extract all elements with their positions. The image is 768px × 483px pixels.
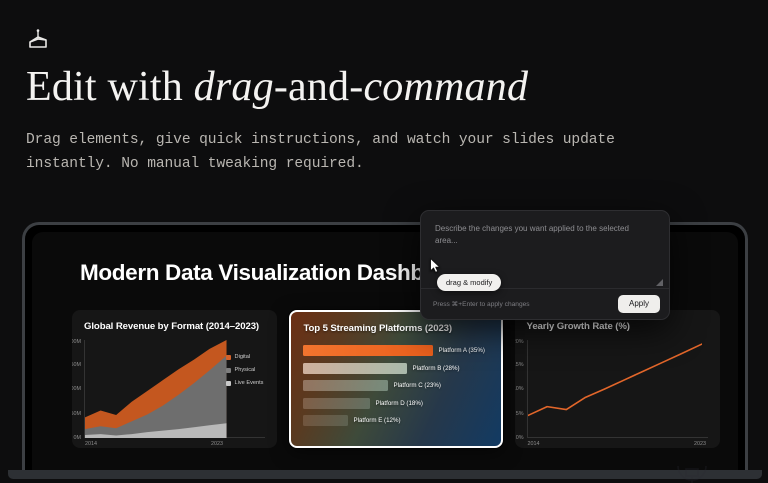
y-tick-2: 100M	[72, 386, 81, 392]
title-part-1: Edit with	[26, 64, 194, 110]
area-chart: 0M 50M 100M 150M 200M 2014 2023	[84, 340, 265, 438]
line-series-growth	[528, 344, 702, 416]
apply-button[interactable]: Apply	[618, 295, 660, 313]
chart-title-growth: Yearly Growth Rate (%)	[527, 321, 708, 332]
hero-section: Edit with drag-and-command Drag elements…	[26, 28, 726, 176]
bar-row: Platform E (12%)	[303, 415, 488, 426]
pointer-cursor-icon	[430, 258, 441, 273]
x-tick-end: 2023	[211, 441, 223, 447]
title-part-2: -and-	[274, 64, 364, 110]
bar-platform-d	[303, 398, 370, 409]
legend-swatch-physical	[226, 368, 231, 373]
command-input-placeholder[interactable]: Describe the changes you want applied to…	[435, 223, 653, 248]
bar-row: Platform B (28%)	[303, 363, 488, 374]
bar-row: Platform A (35%)	[303, 345, 488, 356]
y-tick-2: 10%	[515, 386, 524, 392]
bar-platform-e	[303, 415, 348, 426]
chart-title-revenue: Global Revenue by Format (2014–2023)	[84, 321, 265, 332]
command-panel[interactable]: Describe the changes you want applied to…	[420, 210, 670, 320]
legend-item-digital: Digital	[226, 354, 264, 360]
area-chart-svg	[85, 340, 227, 438]
bar-chart: Platform A (35%) Platform B (28%) Platfo…	[303, 345, 488, 426]
page-title: Edit with drag-and-command	[26, 64, 726, 111]
legend-swatch-live-events	[226, 381, 231, 386]
resize-grip-icon[interactable]	[656, 279, 663, 286]
bar-platform-b	[303, 363, 407, 374]
bar-label-platform-d: Platform D (18%)	[375, 400, 422, 407]
bar-label-platform-e: Platform E (12%)	[353, 417, 400, 424]
line-chart-svg	[528, 340, 702, 438]
bar-platform-a	[303, 345, 433, 356]
y-tick-1: 50M	[72, 411, 81, 417]
bar-row: Platform D (18%)	[303, 398, 488, 409]
legend-swatch-digital	[226, 355, 231, 360]
drag-modify-badge[interactable]: drag & modify	[437, 274, 501, 291]
dashboard-title: Modern Data Visualization Dashboard	[80, 260, 471, 286]
legend-item-physical: Physical	[226, 367, 264, 373]
page-root: Edit with drag-and-command Drag elements…	[0, 0, 768, 483]
chart-legend-revenue: Digital Physical Live Events	[226, 354, 264, 386]
bar-row: Platform C (23%)	[303, 380, 488, 391]
command-shortcut-hint: Press ⌘+Enter to apply changes	[433, 300, 530, 308]
chart-title-streaming: Top 5 Streaming Platforms (2023)	[303, 323, 488, 334]
line-chart: 0% 5% 10% 15% 20% 2014 2023	[527, 340, 708, 438]
command-footer: Press ⌘+Enter to apply changes Apply	[421, 288, 669, 319]
chart-panel-streaming-selected[interactable]: Top 5 Streaming Platforms (2023) Platfor…	[289, 310, 502, 448]
x-tick-end: 2023	[694, 441, 706, 447]
y-tick-4: 200M	[72, 339, 81, 345]
decorative-glyph-icon	[672, 462, 712, 483]
bar-label-platform-b: Platform B (28%)	[412, 365, 459, 372]
page-subtitle: Drag elements, give quick instructions, …	[26, 129, 686, 176]
cake-slice-icon	[26, 28, 50, 50]
y-tick-1: 5%	[516, 411, 524, 417]
y-tick-0: 0M	[74, 435, 82, 441]
x-tick-start: 2014	[528, 441, 540, 447]
title-emphasis-drag: drag	[194, 64, 274, 110]
chart-panel-growth[interactable]: Yearly Growth Rate (%) 0% 5% 10% 15% 20%	[515, 310, 720, 448]
bar-label-platform-c: Platform C (23%)	[393, 382, 440, 389]
y-tick-4: 20%	[515, 339, 524, 345]
x-tick-start: 2014	[85, 441, 97, 447]
title-emphasis-command: command	[363, 64, 528, 110]
legend-label-live-events: Live Events	[235, 380, 264, 386]
laptop-base	[8, 470, 762, 479]
y-tick-3: 15%	[515, 362, 524, 368]
legend-label-physical: Physical	[235, 367, 256, 373]
legend-item-live-events: Live Events	[226, 380, 264, 386]
y-tick-0: 0%	[516, 435, 524, 441]
bar-label-platform-a: Platform A (35%)	[438, 347, 484, 354]
y-tick-3: 150M	[72, 362, 81, 368]
dashboard-panels: Global Revenue by Format (2014–2023) 0M …	[72, 310, 720, 448]
bar-platform-c	[303, 380, 388, 391]
chart-panel-revenue[interactable]: Global Revenue by Format (2014–2023) 0M …	[72, 310, 277, 448]
legend-label-digital: Digital	[235, 354, 251, 360]
